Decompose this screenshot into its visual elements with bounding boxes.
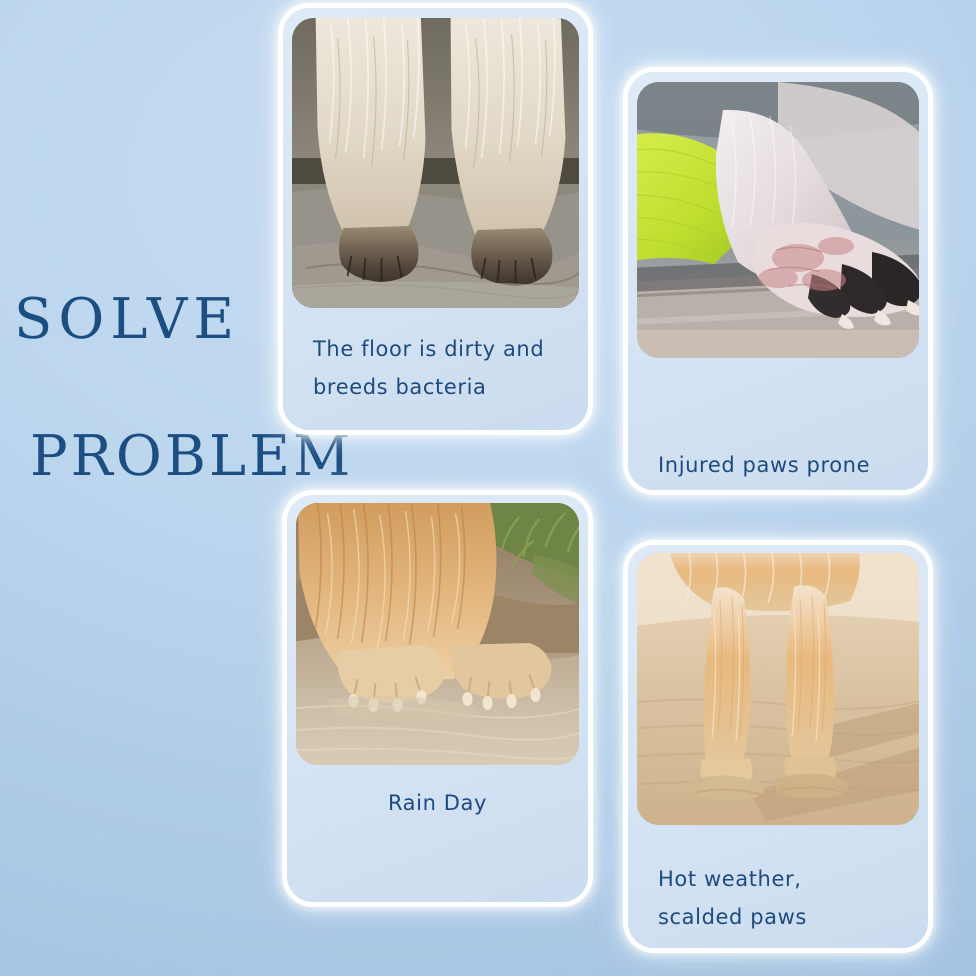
photo-rain-day bbox=[296, 503, 579, 765]
photo-hot-weather bbox=[637, 553, 919, 825]
caption-line-1: Rain Day bbox=[305, 784, 570, 822]
caption-line-1: Injured paws prone bbox=[658, 446, 898, 484]
caption-rain-day: Rain Day bbox=[287, 784, 588, 822]
caption-line-1: Hot weather, bbox=[658, 860, 898, 898]
card-hot-weather[interactable]: Hot weather, scalded paws bbox=[628, 545, 928, 948]
caption-line-1: The floor is dirty and bbox=[313, 330, 558, 368]
photo-injured-paw bbox=[637, 82, 919, 358]
caption-injured-paw: Injured paws prone to infection bbox=[628, 446, 928, 490]
card-dirty-floor[interactable]: The floor is dirty and breeds bacteria bbox=[283, 8, 588, 430]
caption-dirty-floor: The floor is dirty and breeds bacteria bbox=[283, 330, 588, 406]
caption-line-2: scalded paws bbox=[658, 898, 898, 936]
caption-line-2: to infection bbox=[658, 484, 898, 490]
card-rain-day[interactable]: Rain Day bbox=[287, 495, 588, 902]
headline-problem: PROBLEM bbox=[30, 424, 353, 489]
caption-line-2: breeds bacteria bbox=[313, 368, 558, 406]
infographic-canvas: SOLVE PROBLEM bbox=[0, 0, 976, 976]
caption-hot-weather: Hot weather, scalded paws bbox=[628, 860, 928, 936]
headline-solve: SOLVE bbox=[14, 287, 240, 352]
card-injured-paw[interactable]: Injured paws prone to infection bbox=[628, 72, 928, 490]
photo-dirty-floor bbox=[292, 18, 579, 308]
